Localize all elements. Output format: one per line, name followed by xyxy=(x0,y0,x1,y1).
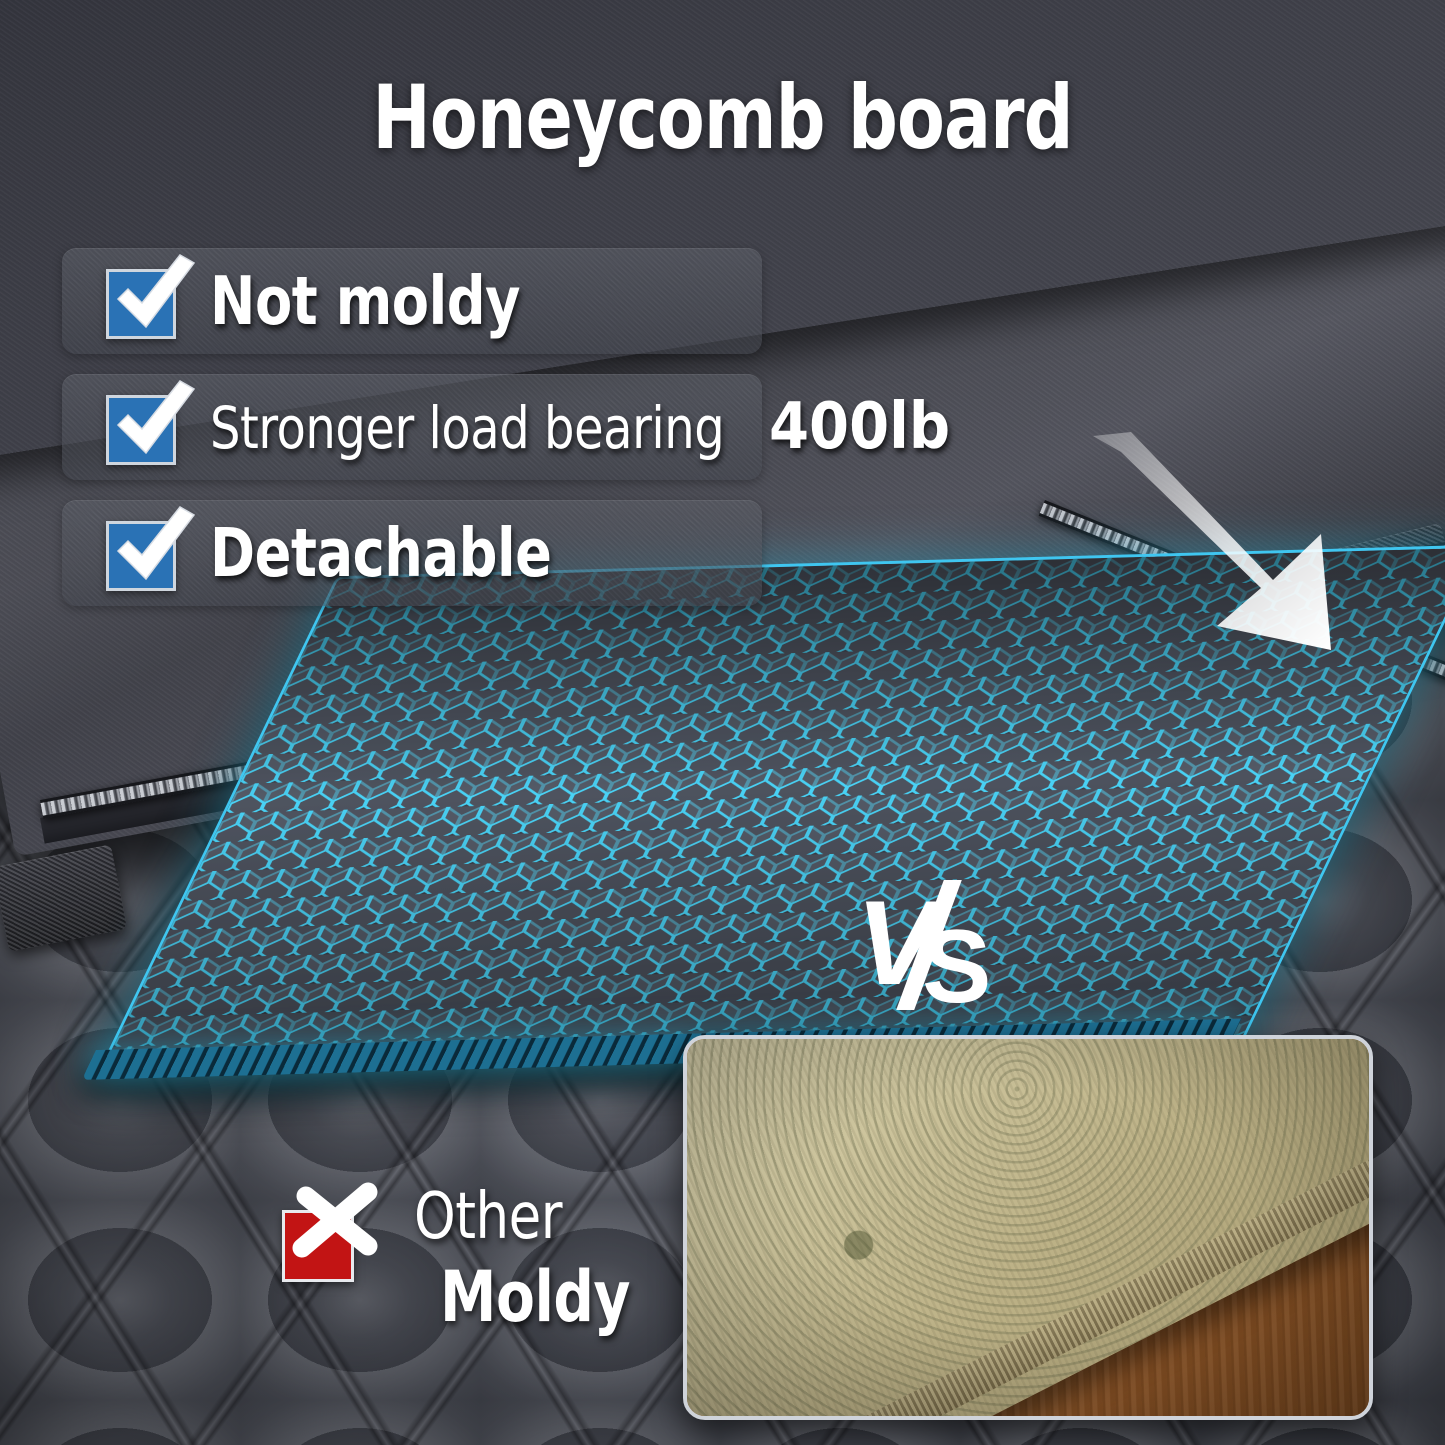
feature-label-text: Stronger load bearing xyxy=(210,394,724,462)
product-infographic: Honeycomb board Not moldy Stronger xyxy=(0,0,1445,1445)
inset-vignette xyxy=(687,1039,1369,1416)
vs-badge: V S xyxy=(860,880,1020,1010)
check-icon xyxy=(106,515,188,591)
check-icon-mark xyxy=(102,367,206,471)
check-icon-mark xyxy=(102,493,206,597)
feature-label-text: Not moldy xyxy=(210,262,520,340)
feature-label: Detachable xyxy=(210,514,589,592)
check-icon-mark xyxy=(102,241,206,345)
x-icon-mark xyxy=(276,1176,394,1294)
x-icon xyxy=(278,1188,388,1298)
feature-label: Not moldy xyxy=(210,262,554,340)
feature-label-accent: 400lb xyxy=(769,390,950,464)
feature-label: Stronger load bearing 400lb xyxy=(210,390,950,464)
check-icon xyxy=(106,263,188,339)
feature-row-detachable: Detachable xyxy=(62,500,762,606)
negative-label-line1: Other xyxy=(414,1180,562,1254)
moldy-board-photo-inset xyxy=(683,1035,1373,1420)
negative-label-line2: Moldy xyxy=(440,1256,630,1338)
feature-row-load-bearing: Stronger load bearing 400lb xyxy=(62,374,762,480)
check-icon xyxy=(106,389,188,465)
page-title: Honeycomb board xyxy=(87,74,1359,162)
feature-list: Not moldy Stronger load bearing 400lb xyxy=(62,248,762,626)
feature-label-text: Detachable xyxy=(210,514,551,592)
feature-row-not-moldy: Not moldy xyxy=(62,248,762,354)
negative-labels: Other Moldy xyxy=(414,1180,651,1338)
arrow-down-right-icon xyxy=(1085,430,1385,680)
